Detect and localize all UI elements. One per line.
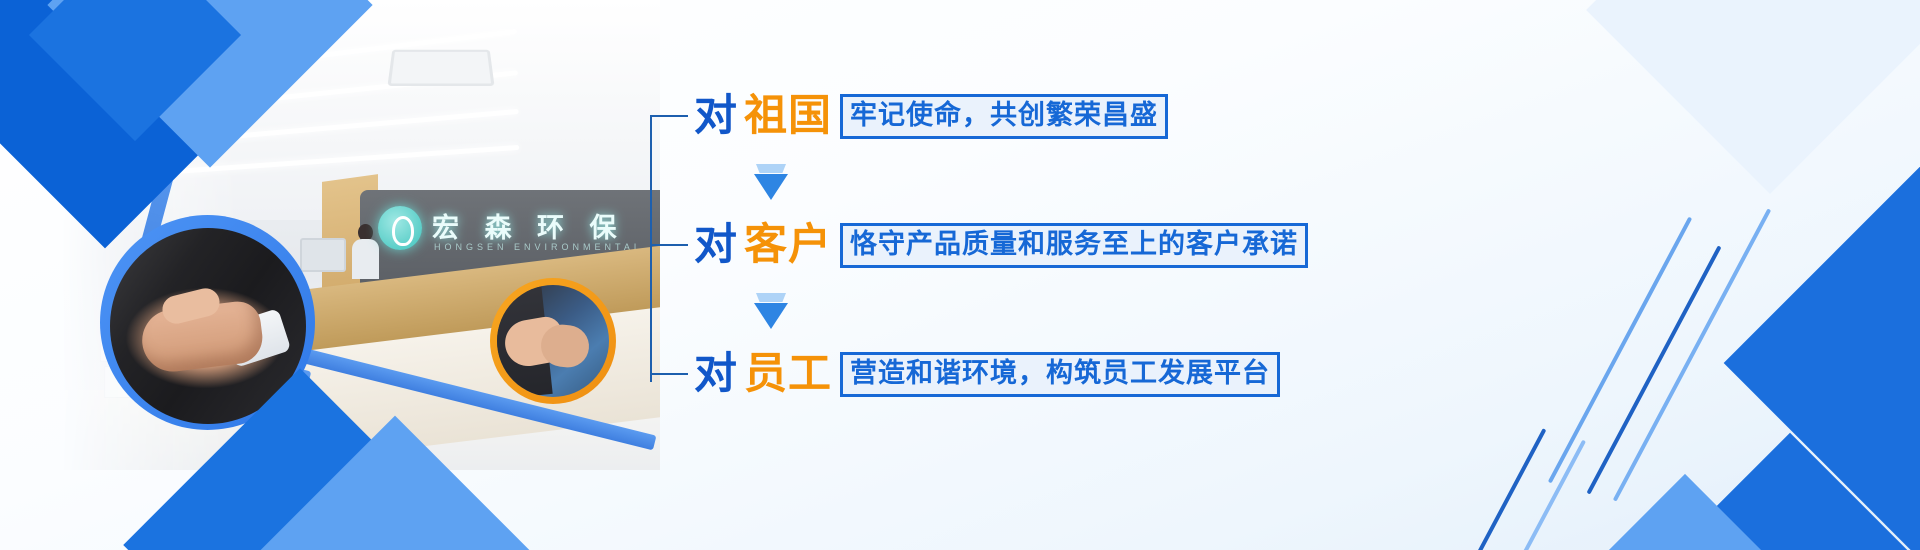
pledge-list: 对 祖国 牢记使命，共创繁荣昌盛 对 客户 恪守产品质量和服务至上的客户承诺 对… <box>650 72 1470 452</box>
hongsen-logo-icon <box>378 206 422 250</box>
pledge-subject: 祖国 <box>744 95 832 138</box>
ceiling-vent <box>387 50 494 86</box>
pledge-prefix: 对 <box>694 95 738 138</box>
pledge-prefix: 对 <box>694 224 738 267</box>
arrow-down-icon <box>754 164 788 198</box>
pledge-subject: 员工 <box>744 353 832 396</box>
pledge-subject: 客户 <box>744 224 832 267</box>
pledge-row-country: 对 祖国 牢记使命，共创繁荣昌盛 <box>650 88 1168 144</box>
pledge-row-customer: 对 客户 恪守产品质量和服务至上的客户承诺 <box>650 217 1308 273</box>
reception-staff <box>352 224 378 276</box>
pledge-statement: 牢记使命，共创繁荣昌盛 <box>840 94 1168 139</box>
arrow-down-icon <box>754 293 788 327</box>
pledge-statement: 营造和谐环境，构筑员工发展平台 <box>840 352 1280 397</box>
company-culture-banner: 宏 森 环 保 HONGSEN ENVIRONMENTAL <box>0 0 1920 550</box>
company-sign-pinyin: HONGSEN ENVIRONMENTAL <box>434 242 643 252</box>
pledge-statement: 恪守产品质量和服务至上的客户承诺 <box>840 223 1308 268</box>
row-tick-icon <box>650 373 688 375</box>
pledge-row-employee: 对 员工 营造和谐环境，构筑员工发展平台 <box>650 346 1280 402</box>
pledge-prefix: 对 <box>694 353 738 396</box>
row-tick-icon <box>650 244 688 246</box>
desk-monitor <box>300 238 346 272</box>
applause-photo <box>497 285 609 397</box>
row-tick-icon <box>650 115 688 117</box>
company-sign-name: 宏 森 环 保 <box>432 206 626 245</box>
